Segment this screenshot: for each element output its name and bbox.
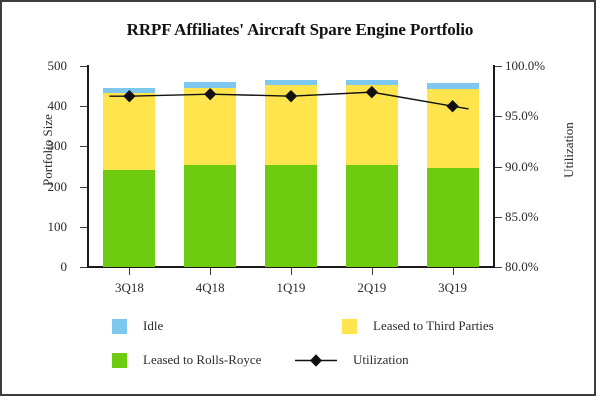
- x-axis-tick-label: 1Q19: [251, 280, 331, 296]
- x-axis-tick: [372, 268, 373, 275]
- legend-item[interactable]: Leased to Rolls-Royce: [112, 352, 261, 368]
- utilization-diamond-marker[interactable]: [204, 88, 216, 100]
- legend-item-label: Leased to Rolls-Royce: [143, 352, 261, 368]
- y-axis-left-tick-label: 0: [61, 260, 68, 273]
- utilization-diamond-marker[interactable]: [446, 100, 458, 112]
- x-axis-tick: [210, 268, 211, 275]
- x-axis-tick-label: 3Q19: [413, 280, 493, 296]
- utilization-line: [89, 66, 493, 267]
- utilization-diamond-marker[interactable]: [366, 86, 378, 98]
- x-axis-tick-label: 4Q18: [170, 280, 250, 296]
- y-axis-left-tick: [80, 187, 87, 188]
- x-axis-tick-label: 3Q18: [89, 280, 169, 296]
- utilization-diamond-marker[interactable]: [285, 90, 297, 102]
- y-axis-right-tick: [495, 66, 502, 67]
- legend-item-label: Idle: [143, 318, 163, 334]
- y-axis-left-tick: [80, 267, 87, 268]
- x-axis-tick-label: 2Q19: [332, 280, 412, 296]
- legend-item[interactable]: Idle: [112, 318, 163, 334]
- y-axis-right-tick: [495, 217, 502, 218]
- y-axis-right-tick-label: 90.0%: [505, 160, 539, 173]
- y-axis-left-tick: [80, 106, 87, 107]
- x-axis-tick: [129, 268, 130, 275]
- x-axis-tick: [291, 268, 292, 275]
- legend-item[interactable]: Leased to Third Parties: [342, 318, 494, 334]
- y-axis-right-tick: [495, 167, 502, 168]
- y-axis-left-tick: [80, 146, 87, 147]
- utilization-diamond-marker[interactable]: [123, 90, 135, 102]
- y-axis-left-tick: [80, 227, 87, 228]
- chart-container: RRPF Affiliates' Aircraft Spare Engine P…: [0, 0, 596, 396]
- plot-area: [89, 66, 493, 267]
- legend-line-marker-icon: [295, 353, 337, 368]
- y-axis-left-tick-label: 400: [48, 99, 68, 112]
- legend-item-label: Utilization: [353, 352, 409, 368]
- y-axis-right-tick: [495, 267, 502, 268]
- y-axis-right-title: Utilization: [561, 80, 577, 220]
- legend-item[interactable]: Utilization: [295, 352, 409, 368]
- chart-title: RRPF Affiliates' Aircraft Spare Engine P…: [2, 20, 598, 40]
- chart-legend: IdleLeased to Third PartiesLeased to Rol…: [112, 318, 512, 380]
- y-axis-left-tick-label: 100: [48, 220, 68, 233]
- y-axis-left-tick-label: 500: [48, 59, 68, 72]
- y-axis-right-tick-label: 85.0%: [505, 210, 539, 223]
- legend-item-label: Leased to Third Parties: [373, 318, 494, 334]
- y-axis-right-tick-label: 95.0%: [505, 109, 539, 122]
- y-axis-right-tick-label: 100.0%: [505, 59, 545, 72]
- y-axis-left-tick-label: 200: [48, 180, 68, 193]
- legend-swatch-icon: [112, 319, 127, 334]
- y-axis-right-tick-label: 80.0%: [505, 260, 539, 273]
- y-axis-right-tick: [495, 116, 502, 117]
- y-axis-left-tick-label: 300: [48, 139, 68, 152]
- x-axis-tick: [453, 268, 454, 275]
- legend-swatch-icon: [342, 319, 357, 334]
- y-axis-left-tick: [80, 66, 87, 67]
- legend-swatch-icon: [112, 353, 127, 368]
